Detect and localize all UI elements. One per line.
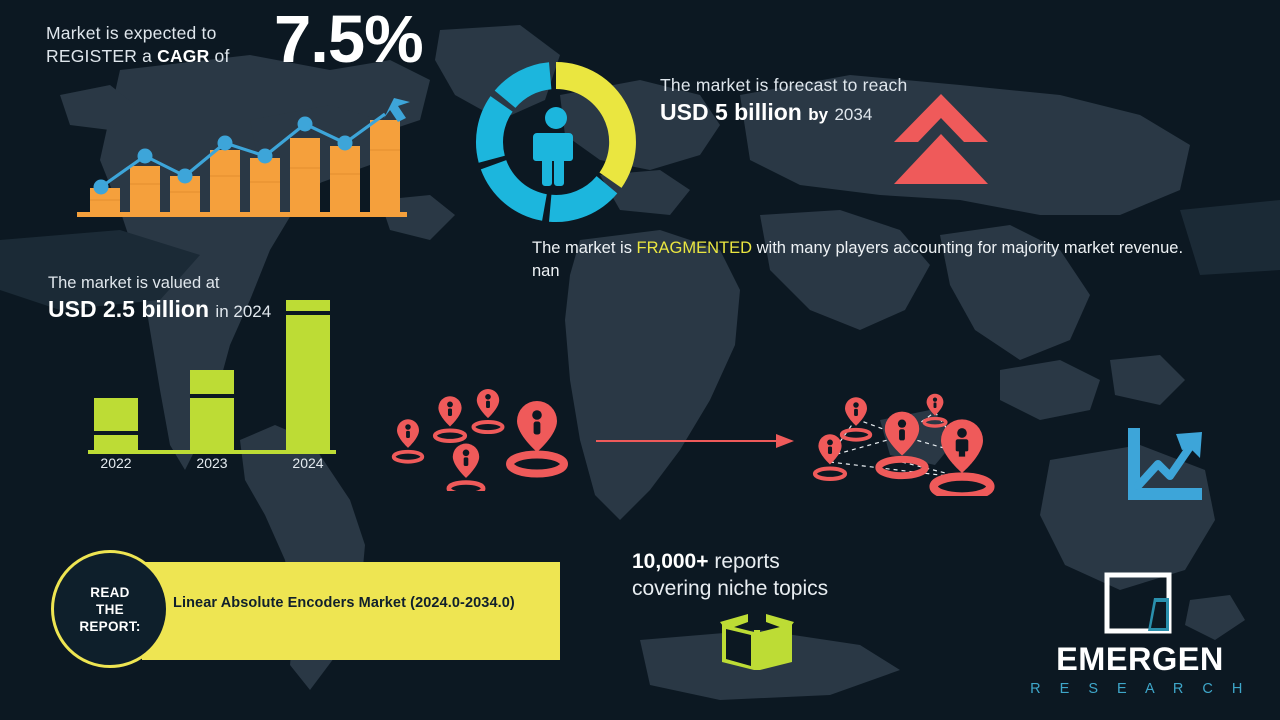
valued-lead-text: The market is valued at: [48, 273, 378, 294]
upward-chevrons-icon: [892, 92, 990, 186]
growth-trend-arrowhead: [384, 98, 410, 122]
map-pin-cluster-left: [380, 386, 580, 491]
map-pin: [435, 396, 465, 441]
logo-mark-icon: [1104, 572, 1172, 634]
growth-bar-chart: [62, 88, 422, 228]
market-value-bars: [94, 300, 330, 450]
map-pin: [924, 394, 946, 426]
cagr-lead-text: Market is expected to REGISTER a CAGR of: [46, 22, 261, 68]
reports-count-block: 10,000+ reports covering niche topics: [632, 548, 828, 602]
read-report-line2: THE: [96, 602, 124, 617]
reports-line1: 10,000+ reports: [632, 548, 828, 575]
market-value-baseline: [88, 450, 336, 454]
logo-wordmark: EMERGEN: [1022, 643, 1258, 676]
read-report-line1: READ: [90, 585, 129, 600]
cagr-value: 7.5%: [274, 6, 423, 73]
map-pin: [510, 401, 564, 474]
map-pin: [394, 419, 423, 461]
read-report-label: READ THE REPORT:: [79, 584, 140, 635]
tick-label-2024: 2024: [292, 455, 323, 471]
fragmented-statement: The market is FRAGMENTED with many playe…: [532, 237, 1212, 283]
read-report-line3: REPORT:: [79, 619, 140, 634]
growth-chart-icon: [1124, 428, 1206, 506]
market-share-donut: [466, 52, 646, 232]
forecast-value: USD 5 billion: [660, 99, 802, 125]
logo-subtitle: R E S E A R C H: [1022, 682, 1258, 697]
reports-line1-rest: reports: [709, 550, 780, 573]
map-pin: [449, 444, 483, 491]
forecast-year: 2034: [834, 105, 872, 124]
infographic-canvas: Market is expected to REGISTER a CAGR of…: [0, 0, 1280, 720]
market-value-bar-chart: 2022 2023 2024: [80, 296, 340, 471]
emergen-research-logo: EMERGEN R E S E A R C H: [1022, 572, 1258, 696]
map-pin: [934, 419, 991, 496]
map-pin: [473, 389, 502, 432]
forecast-by-label: by: [808, 105, 828, 124]
tick-label-2022: 2022: [100, 455, 131, 471]
fragmented-prefix: The market is: [532, 239, 637, 257]
open-book-icon: [718, 610, 796, 672]
growth-bars: [90, 120, 400, 212]
market-value-tick-labels: 2022 2023 2024: [100, 455, 323, 471]
report-title: Linear Absolute Encoders Market (2024.0-…: [173, 595, 515, 611]
map-pin-network-right: [802, 386, 1022, 496]
tick-label-2023: 2023: [196, 455, 227, 471]
cagr-lead-line2-prefix: REGISTER a: [46, 46, 157, 66]
transition-arrow-icon: [596, 430, 796, 452]
reports-line2: covering niche topics: [632, 575, 828, 602]
growth-chart-baseline: [77, 212, 407, 217]
cagr-lead-line2-suffix: of: [209, 46, 229, 66]
donut-person-icon: [533, 107, 573, 186]
cagr-block: Market is expected to REGISTER a CAGR of…: [46, 22, 466, 68]
fragmented-highlight: FRAGMENTED: [637, 239, 753, 257]
cagr-keyword: CAGR: [157, 46, 209, 66]
reports-count: 10,000+: [632, 550, 709, 573]
cagr-lead-line1: Market is expected to: [46, 23, 217, 43]
read-report-circle[interactable]: READ THE REPORT:: [51, 550, 169, 668]
read-report-pill[interactable]: Linear Absolute Encoders Market (2024.0-…: [142, 562, 560, 660]
